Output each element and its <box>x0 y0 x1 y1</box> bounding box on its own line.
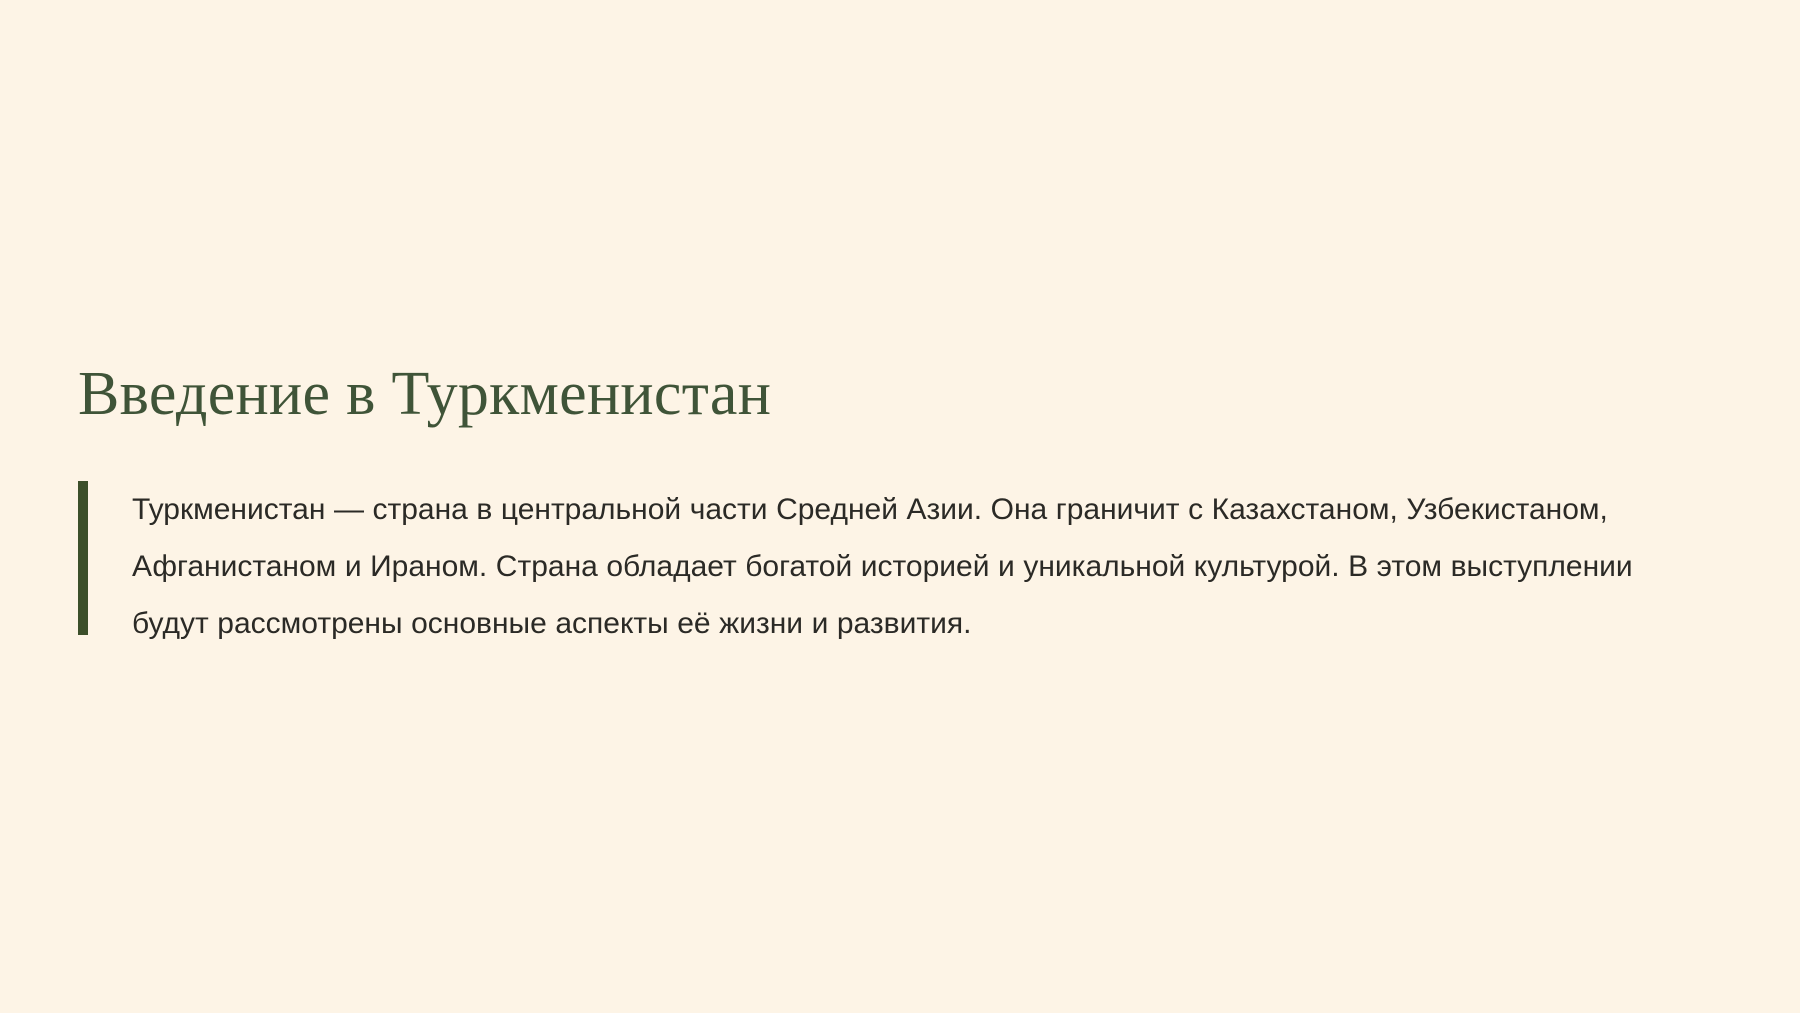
body-paragraph: Туркменистан — страна в центральной част… <box>132 481 1662 652</box>
page-title: Введение в Туркменистан <box>78 360 1698 429</box>
body-callout: Туркменистан — страна в центральной част… <box>78 481 1698 652</box>
presentation-slide: Введение в Туркменистан Туркменистан — с… <box>0 0 1800 1013</box>
left-accent-bar <box>78 481 88 635</box>
slide-content: Введение в Туркменистан Туркменистан — с… <box>78 360 1698 652</box>
